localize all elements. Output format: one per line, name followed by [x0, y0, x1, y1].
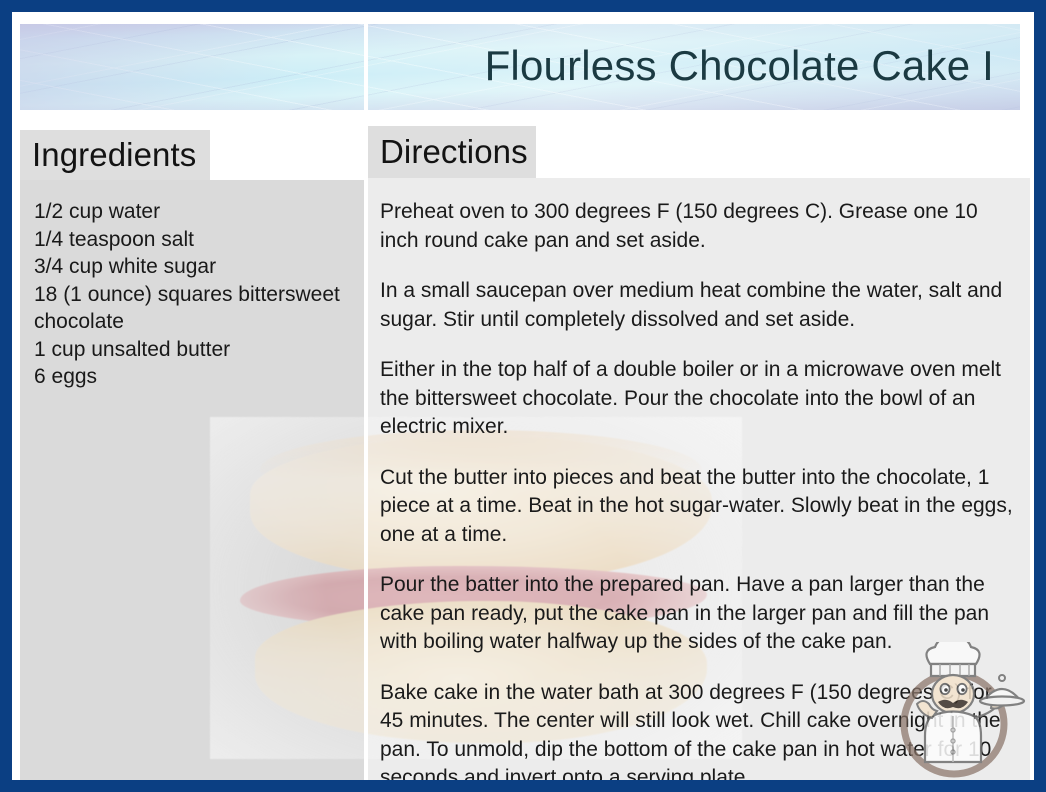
ingredient-item: 3/4 cup white sugar: [34, 253, 346, 281]
ingredient-item: 18 (1 ounce) squares bittersweet chocola…: [34, 281, 346, 336]
ingredient-item: 1/4 teaspoon salt: [34, 226, 346, 254]
recipe-card: Flourless Chocolate Cake I Ingredients D…: [0, 0, 1046, 792]
directions-steps: Preheat oven to 300 degrees F (150 degre…: [368, 198, 1030, 780]
ingredients-heading-label: Ingredients: [32, 136, 196, 174]
ingredients-list: 1/2 cup water1/4 teaspoon salt3/4 cup wh…: [20, 198, 356, 391]
ingredient-item: 1 cup unsalted butter: [34, 336, 346, 364]
header-banner: Flourless Chocolate Cake I: [20, 24, 1020, 110]
ingredient-item: 6 eggs: [34, 363, 346, 391]
direction-step: Cut the butter into pieces and beat the …: [380, 464, 1016, 550]
ingredients-heading: Ingredients: [20, 130, 210, 180]
ingredient-item: 1/2 cup water: [34, 198, 346, 226]
directions-heading-label: Directions: [380, 133, 528, 171]
direction-step: Either in the top half of a double boile…: [380, 356, 1016, 442]
direction-step: In a small saucepan over medium heat com…: [380, 277, 1016, 334]
directions-heading: Directions: [368, 126, 536, 178]
direction-step: Pour the batter into the prepared pan. H…: [380, 571, 1016, 657]
direction-step: Bake cake in the water bath at 300 degre…: [380, 679, 1016, 781]
recipe-page: Flourless Chocolate Cake I Ingredients D…: [12, 12, 1034, 780]
recipe-title: Flourless Chocolate Cake I: [485, 42, 994, 90]
direction-step: Preheat oven to 300 degrees F (150 degre…: [380, 198, 1016, 255]
